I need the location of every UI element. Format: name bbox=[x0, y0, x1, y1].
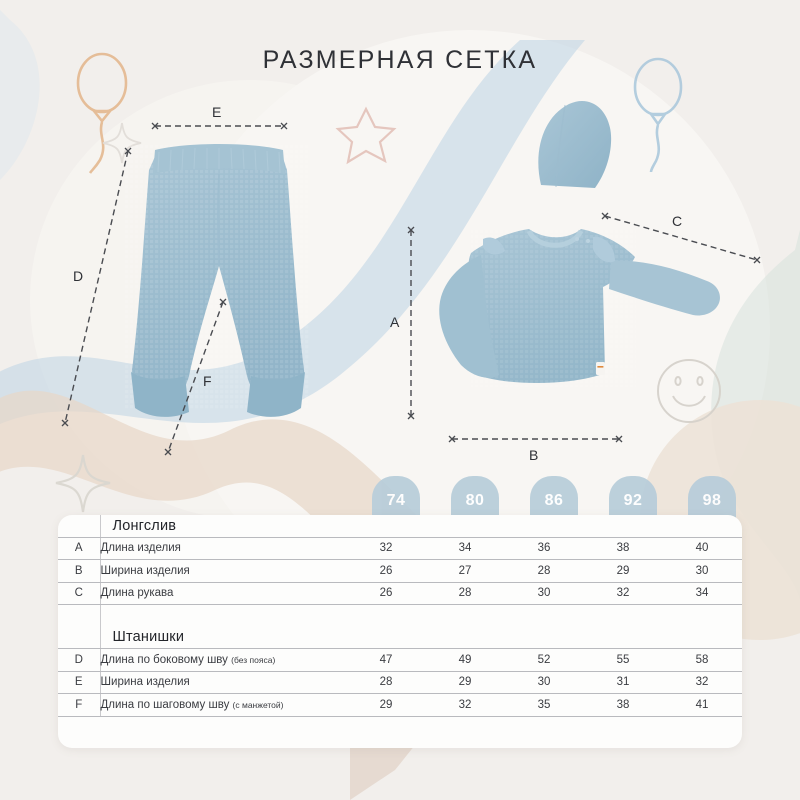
pants-photo bbox=[95, 140, 340, 450]
cell-F-92: 38 bbox=[599, 694, 647, 717]
table-row: A Длина изделия 32 34 36 38 40 bbox=[58, 537, 742, 560]
cell-C-86: 30 bbox=[520, 582, 568, 605]
size-table: Лонгслив A Длина изделия 32 34 36 38 40 … bbox=[58, 515, 742, 717]
cell-B-80: 27 bbox=[441, 560, 489, 583]
cell-C-80: 28 bbox=[441, 582, 489, 605]
shirt-photo bbox=[425, 215, 735, 415]
row-letter-D: D bbox=[58, 649, 100, 672]
cell-A-80: 34 bbox=[441, 537, 489, 560]
table-row: C Длина рукава 26 28 30 32 34 bbox=[58, 582, 742, 605]
dim-label-C: C bbox=[672, 213, 683, 229]
cell-A-92: 38 bbox=[599, 537, 647, 560]
row-letter-A: A bbox=[58, 537, 100, 560]
dim-label-B: B bbox=[529, 447, 539, 463]
section-title-longsleeve: Лонгслив bbox=[100, 515, 362, 537]
row-name-E: Ширина изделия bbox=[100, 671, 362, 694]
size-number-86: 86 bbox=[530, 492, 578, 510]
dim-label-E: E bbox=[212, 104, 222, 120]
table-row: D Длина по боковому шву (без пояса) 47 4… bbox=[58, 649, 742, 672]
row-name-text-A: Длина изделия bbox=[101, 542, 181, 554]
dim-label-F: F bbox=[203, 373, 212, 389]
section-letter-blank-2 bbox=[58, 627, 100, 649]
row-name-text-E: Ширина изделия bbox=[101, 676, 190, 688]
cell-E-86: 30 bbox=[520, 671, 568, 694]
cell-F-86: 35 bbox=[520, 694, 568, 717]
cell-F-80: 32 bbox=[441, 694, 489, 717]
table-row: F Длина по шаговому шву (с манжетой) 29 … bbox=[58, 694, 742, 717]
cell-E-98: 32 bbox=[678, 671, 726, 694]
size-table-card: Лонгслив A Длина изделия 32 34 36 38 40 … bbox=[58, 515, 742, 748]
row-letter-C: C bbox=[58, 582, 100, 605]
section-spacer bbox=[58, 605, 742, 627]
cell-F-98: 41 bbox=[678, 694, 726, 717]
cell-B-92: 29 bbox=[599, 560, 647, 583]
size-chart-page: РАЗМЕРНАЯ СЕТКА bbox=[0, 0, 800, 800]
row-name-B: Ширина изделия bbox=[100, 560, 362, 583]
row-name-A: Длина изделия bbox=[100, 537, 362, 560]
table-row: E Ширина изделия 28 29 30 31 32 bbox=[58, 671, 742, 694]
cell-D-86: 52 bbox=[520, 649, 568, 672]
size-number-92: 92 bbox=[609, 492, 657, 510]
hat-photo bbox=[525, 95, 620, 190]
table-row: B Ширина изделия 26 27 28 29 30 bbox=[58, 560, 742, 583]
size-number-74: 74 bbox=[372, 492, 420, 510]
row-name-text-B: Ширина изделия bbox=[101, 565, 190, 577]
cell-D-92: 55 bbox=[599, 649, 647, 672]
dim-label-D: D bbox=[73, 268, 84, 284]
size-number-98: 98 bbox=[688, 492, 736, 510]
row-name-D: Длина по боковому шву (без пояса) bbox=[100, 649, 362, 672]
cell-A-86: 36 bbox=[520, 537, 568, 560]
size-number-80: 80 bbox=[451, 492, 499, 510]
cell-E-74: 28 bbox=[362, 671, 410, 694]
cell-D-80: 49 bbox=[441, 649, 489, 672]
section-header-longsleeve: Лонгслив bbox=[58, 515, 742, 537]
cell-A-74: 32 bbox=[362, 537, 410, 560]
cell-C-92: 32 bbox=[599, 582, 647, 605]
section-header-pants: Штанишки bbox=[58, 627, 742, 649]
row-note-D: (без пояса) bbox=[231, 655, 275, 665]
cell-E-92: 31 bbox=[599, 671, 647, 694]
cell-B-74: 26 bbox=[362, 560, 410, 583]
cell-C-74: 26 bbox=[362, 582, 410, 605]
cell-F-74: 29 bbox=[362, 694, 410, 717]
cell-B-86: 28 bbox=[520, 560, 568, 583]
row-letter-B: B bbox=[58, 560, 100, 583]
dim-label-A: A bbox=[390, 314, 400, 330]
cell-C-98: 34 bbox=[678, 582, 726, 605]
row-name-text-D: Длина по боковому шву bbox=[101, 654, 228, 666]
cell-D-98: 58 bbox=[678, 649, 726, 672]
row-letter-E: E bbox=[58, 671, 100, 694]
row-name-F: Длина по шаговому шву (с манжетой) bbox=[100, 694, 362, 717]
cell-A-98: 40 bbox=[678, 537, 726, 560]
balloon-blue-icon bbox=[635, 59, 681, 172]
row-note-F: (с манжетой) bbox=[233, 700, 284, 710]
row-name-text-C: Длина рукава bbox=[101, 587, 174, 599]
cell-E-80: 29 bbox=[441, 671, 489, 694]
cell-B-98: 30 bbox=[678, 560, 726, 583]
row-letter-F: F bbox=[58, 694, 100, 717]
star-grey-icon bbox=[56, 455, 110, 512]
row-name-text-F: Длина по шаговому шву bbox=[101, 699, 230, 711]
page-title: РАЗМЕРНАЯ СЕТКА bbox=[0, 46, 800, 75]
cell-D-74: 47 bbox=[362, 649, 410, 672]
section-title-pants: Штанишки bbox=[100, 627, 362, 649]
section-letter-blank bbox=[58, 515, 100, 537]
star-pink-icon bbox=[338, 109, 394, 162]
row-name-C: Длина рукава bbox=[100, 582, 362, 605]
